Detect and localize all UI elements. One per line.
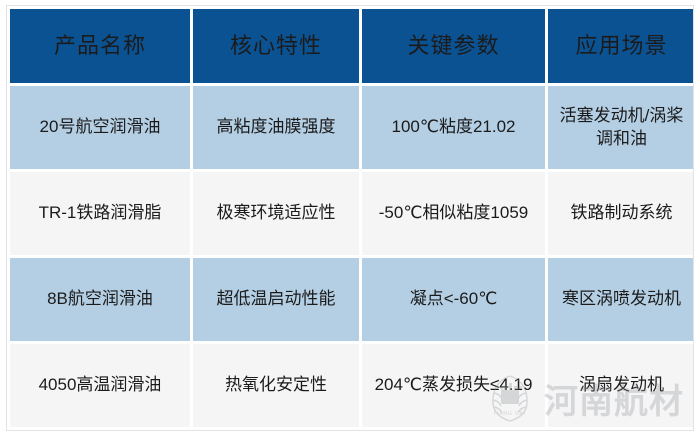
- table-body: 20号航空润滑油 高粘度油膜强度 100℃粘度21.02 活塞发动机/涡桨调和油…: [10, 86, 694, 427]
- cell-application: 铁路制动系统: [548, 172, 694, 255]
- cell-application: 活塞发动机/涡桨调和油: [548, 86, 694, 169]
- table-header: 产品名称 核心特性 关键参数 应用场景: [10, 9, 694, 83]
- cell-core-feature: 极寒环境适应性: [193, 172, 359, 255]
- column-header-core-feature: 核心特性: [193, 9, 359, 83]
- cell-key-parameter: 204℃蒸发损失≤4.19: [362, 344, 545, 427]
- cell-application: 寒区涡喷发动机: [548, 258, 694, 341]
- cell-product-name: 8B航空润滑油: [10, 258, 190, 341]
- cell-key-parameter: 100℃粘度21.02: [362, 86, 545, 169]
- product-spec-table: 产品名称 核心特性 关键参数 应用场景 20号航空润滑油 高粘度油膜强度 100…: [7, 6, 694, 430]
- table-row: 20号航空润滑油 高粘度油膜强度 100℃粘度21.02 活塞发动机/涡桨调和油: [10, 86, 694, 169]
- column-header-application: 应用场景: [548, 9, 694, 83]
- table-row: TR-1铁路润滑脂 极寒环境适应性 -50℃相似粘度1059 铁路制动系统: [10, 172, 694, 255]
- column-header-key-parameter: 关键参数: [362, 9, 545, 83]
- page-root: 产品名称 核心特性 关键参数 应用场景 20号航空润滑油 高粘度油膜强度 100…: [0, 0, 700, 435]
- spec-table-frame: 产品名称 核心特性 关键参数 应用场景 20号航空润滑油 高粘度油膜强度 100…: [6, 5, 694, 431]
- cell-product-name: 20号航空润滑油: [10, 86, 190, 169]
- table-row: 8B航空润滑油 超低温启动性能 凝点<-60℃ 寒区涡喷发动机: [10, 258, 694, 341]
- cell-product-name: TR-1铁路润滑脂: [10, 172, 190, 255]
- column-header-product-name: 产品名称: [10, 9, 190, 83]
- cell-key-parameter: -50℃相似粘度1059: [362, 172, 545, 255]
- cell-key-parameter: 凝点<-60℃: [362, 258, 545, 341]
- cell-core-feature: 高粘度油膜强度: [193, 86, 359, 169]
- header-row: 产品名称 核心特性 关键参数 应用场景: [10, 9, 694, 83]
- cell-application: 涡扇发动机: [548, 344, 694, 427]
- table-row: 4050高温润滑油 热氧化安定性 204℃蒸发损失≤4.19 涡扇发动机: [10, 344, 694, 427]
- cell-core-feature: 热氧化安定性: [193, 344, 359, 427]
- cell-product-name: 4050高温润滑油: [10, 344, 190, 427]
- cell-core-feature: 超低温启动性能: [193, 258, 359, 341]
